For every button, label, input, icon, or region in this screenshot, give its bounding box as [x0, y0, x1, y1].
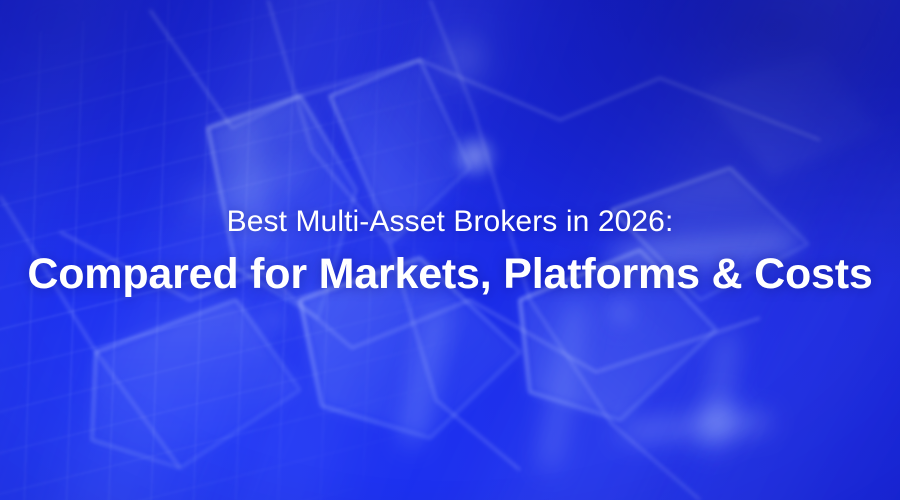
- headline-line-2: Compared for Markets, Platforms & Costs: [27, 251, 872, 297]
- headline-line-1: Best Multi-Asset Brokers in 2026:: [227, 206, 674, 238]
- headline-block: Best Multi-Asset Brokers in 2026: Compar…: [0, 0, 900, 500]
- hero-banner: Best Multi-Asset Brokers in 2026: Compar…: [0, 0, 900, 500]
